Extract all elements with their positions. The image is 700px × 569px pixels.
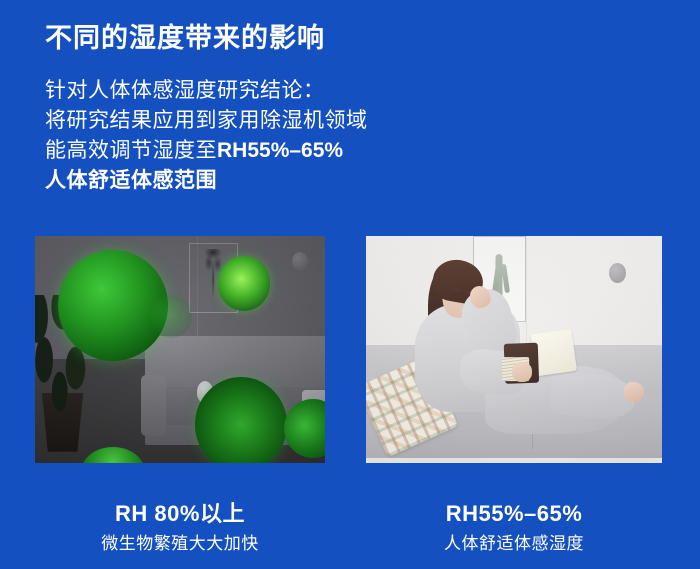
body-line-3-prefix: 能高效调节湿度至 xyxy=(45,139,217,162)
page-title: 不同的湿度带来的影响 xyxy=(45,16,325,55)
humidity-range-highlight: RH55%–65% xyxy=(217,139,343,162)
light-overlay xyxy=(366,236,662,463)
body-copy: 针对人体体感湿度研究结论： 将研究结果应用到家用除湿机领域 能高效调节湿度至RH… xyxy=(45,76,605,196)
microbe-large-icon xyxy=(58,250,168,361)
caption-left-title: RH 80%以上 xyxy=(35,500,325,528)
body-line-3: 能高效调节湿度至RH55%–65% xyxy=(45,136,605,166)
microbe-top-right-icon xyxy=(218,256,270,310)
body-line-2: 将研究结果应用到家用除湿机领域 xyxy=(45,106,605,136)
caption-right-subtitle: 人体舒适体感湿度 xyxy=(366,531,662,557)
dim-room-scene xyxy=(35,236,325,463)
body-line-4: 人体舒适体感范围 xyxy=(45,166,605,196)
photo-comfortable-humidity xyxy=(366,236,662,463)
caption-right-title: RH55%–65% xyxy=(366,500,662,528)
microbe-cluster-icon xyxy=(151,295,192,338)
caption-high-humidity: RH 80%以上 微生物繁殖大大加快 xyxy=(35,500,325,557)
body-line-1: 针对人体体感湿度研究结论： xyxy=(45,76,605,106)
caption-left-subtitle: 微生物繁殖大大加快 xyxy=(35,531,325,557)
photo-high-humidity xyxy=(35,236,325,463)
promo-slide: 不同的湿度带来的影响 针对人体体感湿度研究结论： 将研究结果应用到家用除湿机领域… xyxy=(0,0,700,569)
caption-comfortable-humidity: RH55%–65% 人体舒适体感湿度 xyxy=(366,500,662,557)
bright-room-scene xyxy=(366,236,662,463)
